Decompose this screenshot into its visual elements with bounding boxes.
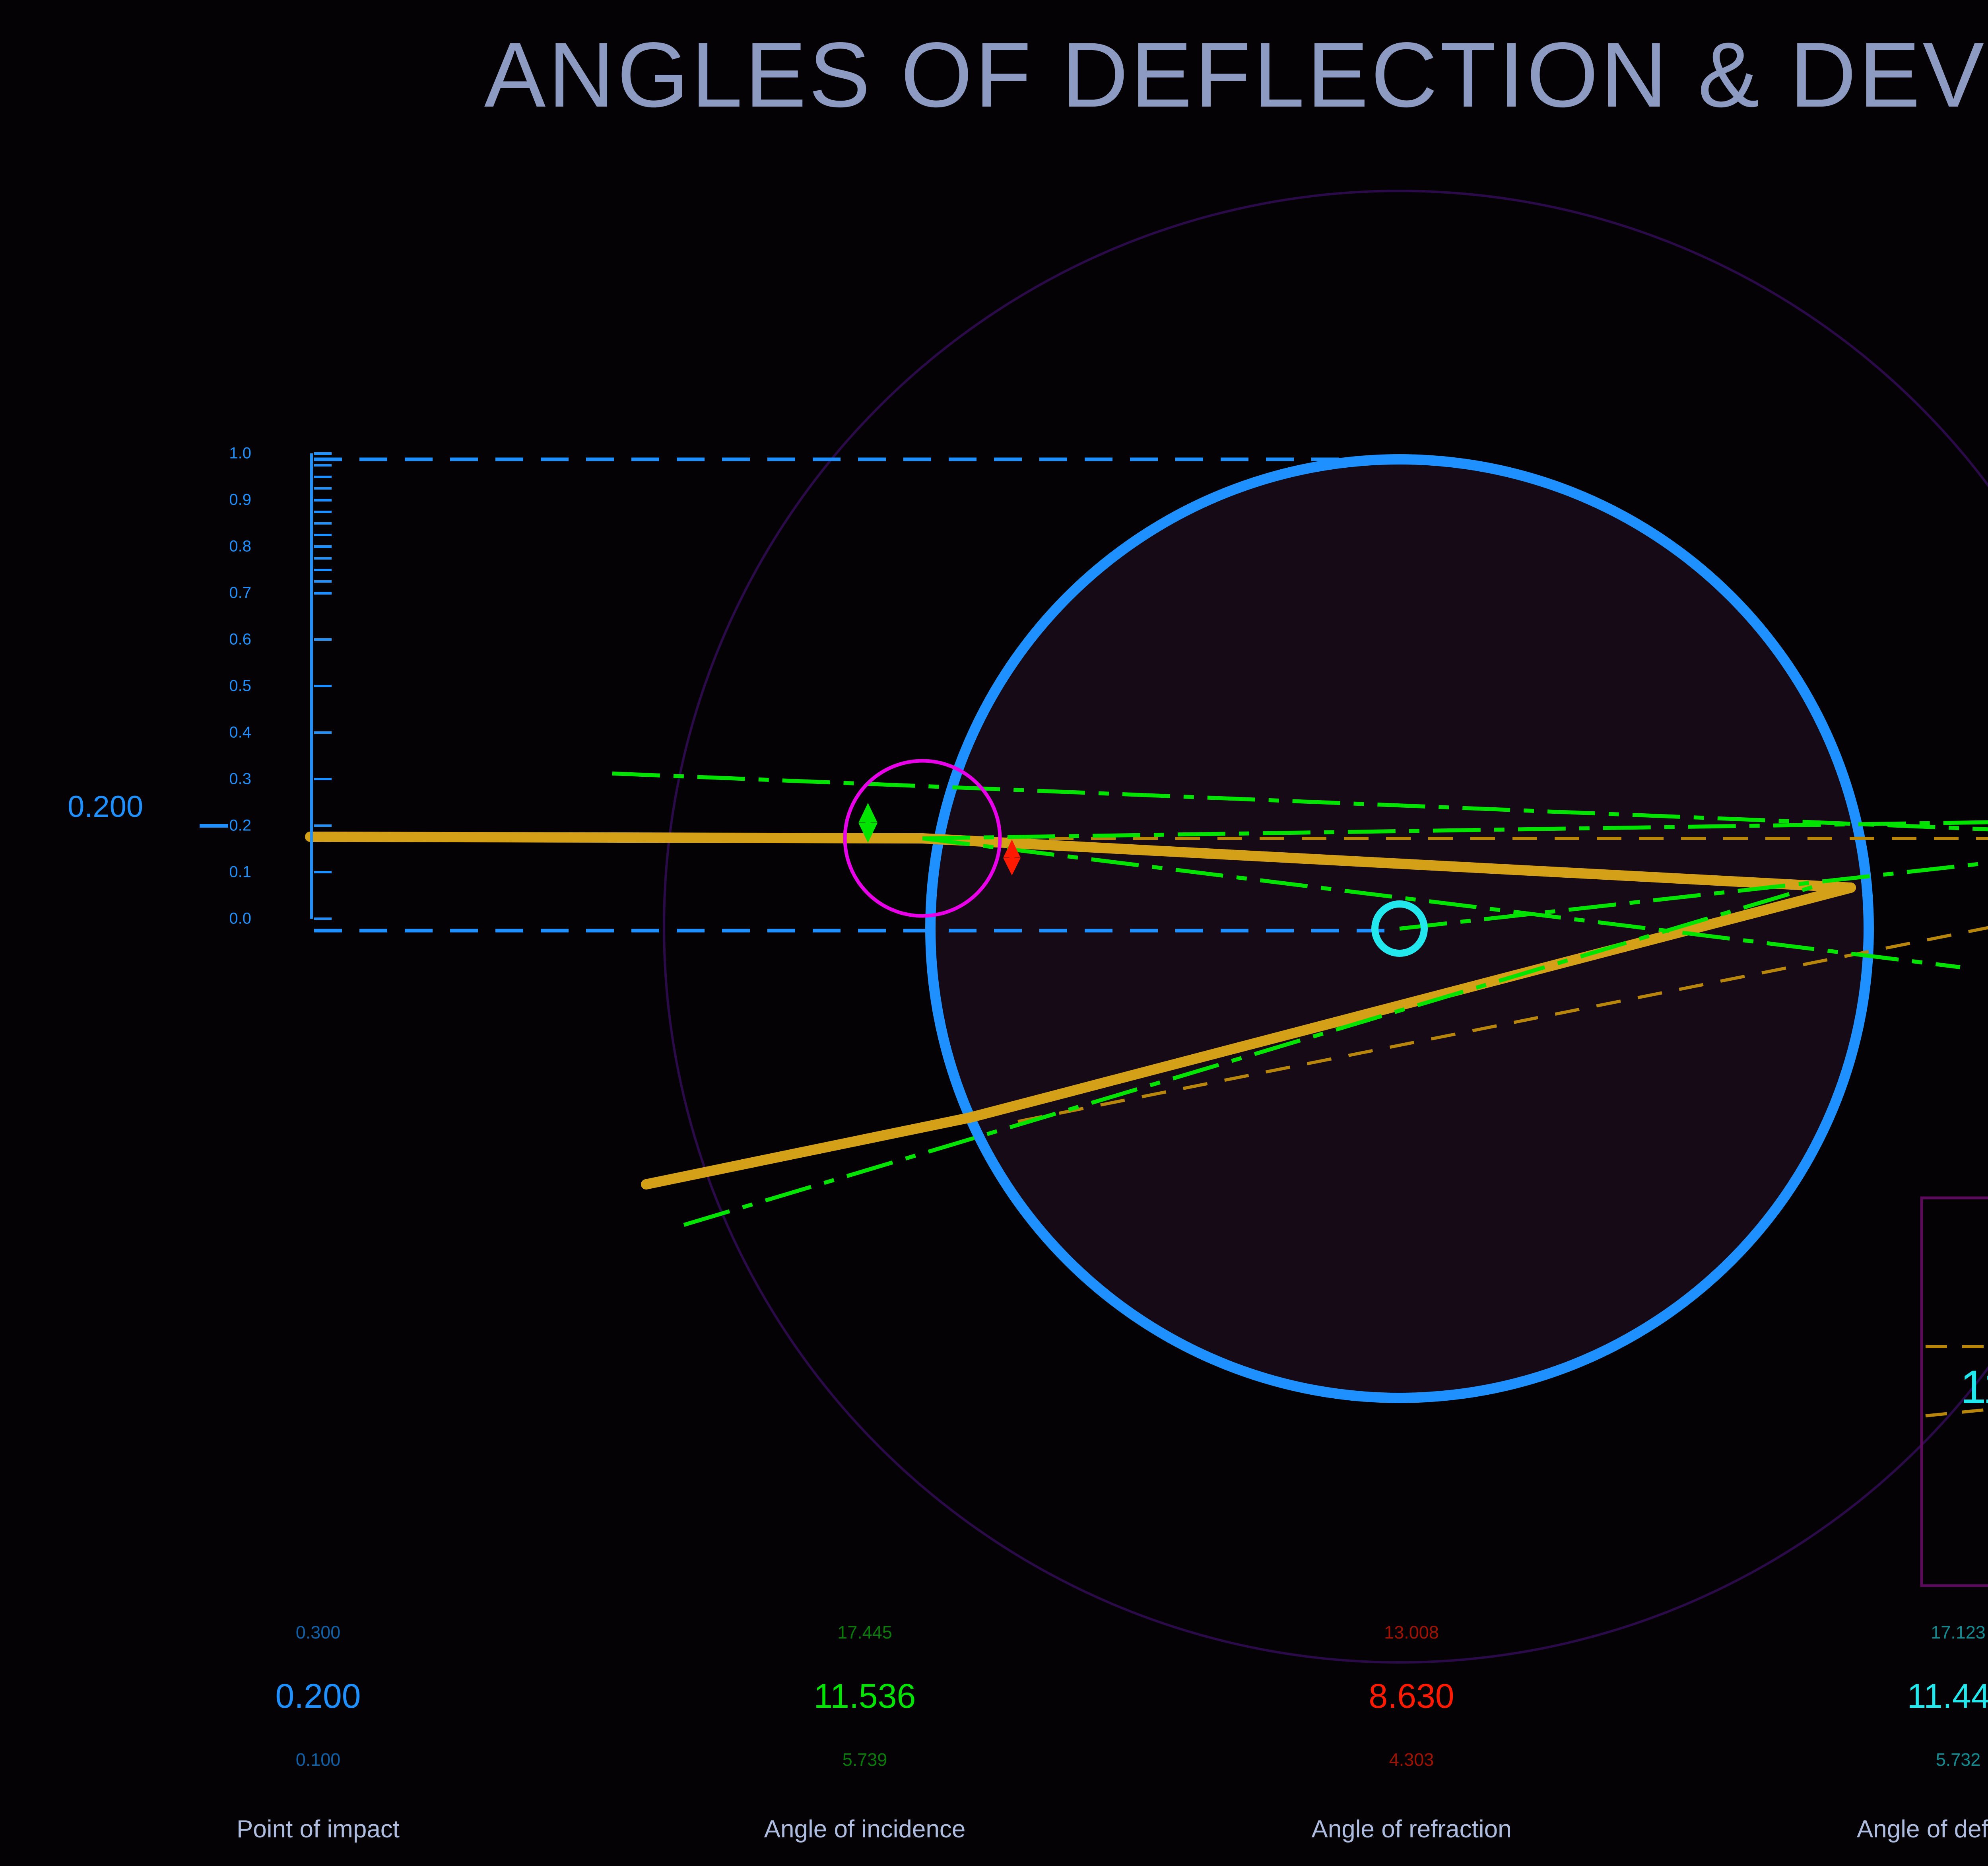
y-axis-minor-tick: [314, 592, 332, 595]
y-axis-tick: [314, 871, 332, 873]
y-axis: 1.00.90.80.70.60.50.40.30.20.10.0: [254, 453, 318, 919]
y-axis-tick-label: 0.0: [229, 910, 251, 928]
readout-upper-value: 17.123: [1688, 1607, 1988, 1658]
y-axis-minor-tick: [314, 476, 332, 478]
readout-main-value: 8.630: [1141, 1658, 1682, 1734]
readout-column[interactable]: 17.12311.4435.732Angle of deflection: [1688, 1607, 1988, 1857]
y-axis-tick-label: 0.5: [229, 677, 251, 695]
readout-lower-value: 0.100: [48, 1734, 588, 1786]
readout-column[interactable]: 0.3000.2000.100Point of impact: [48, 1607, 588, 1857]
readout-lower-value: 4.303: [1141, 1734, 1682, 1786]
y-axis-tick-label: 0.4: [229, 724, 251, 742]
y-axis-tick: [314, 778, 332, 780]
visualization-stage: ANGLES OF DEFLECTION & DEVIATION: [0, 0, 1988, 1866]
y-axis-minor-tick: [314, 522, 332, 525]
optics-diagram: [0, 0, 1988, 1866]
selected-value-marker: [200, 824, 228, 828]
readout-column-label: Angle of refraction: [1141, 1802, 1682, 1857]
y-axis-tick: [314, 638, 332, 641]
y-axis-minor-tick: [314, 534, 332, 536]
inset-deflection-value: 11.4: [1960, 1361, 1988, 1413]
readout-upper-value: 17.445: [594, 1607, 1135, 1658]
y-axis-tick-label: 0.2: [229, 817, 251, 835]
y-axis-tick: [314, 917, 332, 920]
readout-upper-value: 0.300: [48, 1607, 588, 1658]
y-axis-tick-label: 0.6: [229, 631, 251, 649]
readout-column-label: Angle of incidence: [594, 1802, 1135, 1857]
incident-ray: [310, 837, 922, 838]
y-axis-minor-tick: [314, 580, 332, 583]
y-axis-minor-tick: [314, 569, 332, 571]
readout-main-value: 11.443: [1688, 1658, 1988, 1734]
readout-column-label: Point of impact: [48, 1802, 588, 1857]
y-axis-minor-tick: [314, 546, 332, 548]
y-axis-minor-tick: [314, 557, 332, 560]
y-axis-tick-label: 0.7: [229, 584, 251, 602]
y-axis-tick: [314, 731, 332, 734]
y-axis-tick-label: 0.3: [229, 770, 251, 788]
readout-main-value: 0.200: [48, 1658, 588, 1734]
exit-ray: [646, 1118, 970, 1184]
readout-lower-value: 5.732: [1688, 1734, 1988, 1786]
y-axis-minor-tick: [314, 499, 332, 501]
y-axis-line: [310, 453, 313, 919]
readout-lower-value: 5.739: [594, 1734, 1135, 1786]
readout-column[interactable]: 17.44511.5365.739Angle of incidence: [594, 1607, 1135, 1857]
y-axis-tick-label: 0.9: [229, 491, 251, 509]
y-axis-minor-tick: [314, 464, 332, 466]
readout-column[interactable]: 13.0088.6304.303Angle of refraction: [1141, 1607, 1682, 1857]
readout-column-label: Angle of deflection: [1688, 1802, 1988, 1857]
readout-main-value: 11.536: [594, 1658, 1135, 1734]
y-axis-tick: [314, 824, 332, 827]
y-axis-tick-label: 0.8: [229, 538, 251, 556]
inset-deflection-label: 11.40: [1960, 1360, 1988, 1414]
readout-upper-value: 13.008: [1141, 1607, 1682, 1658]
y-axis-tick-label: 1.0: [229, 445, 251, 463]
y-axis-minor-tick: [314, 487, 332, 490]
y-axis-tick-label: 0.1: [229, 863, 251, 881]
selected-value-label: 0.200: [68, 789, 143, 824]
y-axis-tick: [314, 685, 332, 687]
y-axis-minor-tick: [314, 511, 332, 513]
y-axis-minor-tick: [314, 453, 332, 455]
readout-table: 0.3000.2000.100Point of impact17.44511.5…: [0, 1607, 1988, 1853]
